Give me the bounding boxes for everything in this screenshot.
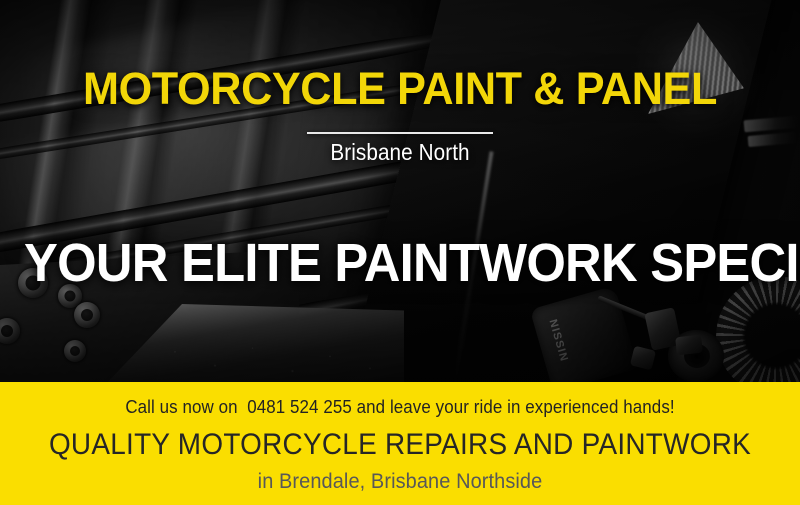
footer-band: Call us now on 0481 524 255 and leave yo…: [0, 382, 800, 505]
footer-location-line: in Brendale, Brisbane Northside: [20, 470, 780, 494]
page-title: MOTORCYCLE PAINT & PANEL: [16, 66, 784, 111]
footer-services-line: QUALITY MOTORCYCLE REPAIRS AND PAINTWORK: [28, 428, 772, 462]
page-subtitle: Brisbane North: [40, 139, 760, 166]
motorcycle-paint-panel-banner: NISSIN MOTORCYCLE PAINT & PANEL Brisbane…: [0, 0, 800, 505]
title-divider: [307, 132, 493, 134]
footer-call-to-action: Call us now on 0481 524 255 and leave yo…: [24, 397, 776, 418]
hero-tagline: YOUR ELITE PAINTWORK SPECIALISTS: [24, 236, 776, 290]
